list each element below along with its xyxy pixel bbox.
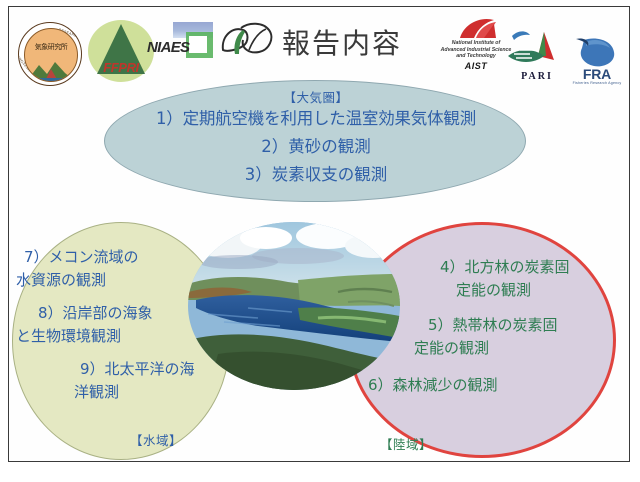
- land-item-5b: 定能の観測: [414, 337, 640, 360]
- atmosphere-item-3: 3）炭素収支の観測: [105, 161, 527, 185]
- fra-label: FRA: [566, 66, 628, 82]
- fra-sublabel: Fisheries Research Agency: [566, 81, 628, 85]
- header: METEOROLOGICAL RESEARCH INSTITUTE 気象研究所 …: [0, 0, 640, 92]
- water-item-8a: 8）沿岸部の海象: [14, 302, 232, 325]
- pari-logo[interactable]: PARI: [504, 26, 570, 82]
- fra-logo[interactable]: FRA Fisheries Research Agency: [566, 36, 628, 88]
- atmosphere-item-1: 1）定期航空機を利用した温室効果気体観測: [105, 105, 527, 129]
- water-item-9b: 洋観測: [14, 381, 232, 404]
- cger-logo[interactable]: [219, 20, 277, 66]
- atmosphere-tag: 【大気圏】: [105, 87, 527, 106]
- niaes-logo[interactable]: NIAES: [147, 22, 215, 70]
- water-item-7a: 7）メコン流域の: [14, 246, 232, 269]
- water-item-7b: 水資源の観測: [14, 269, 232, 292]
- atmosphere-item-2: 2）黄砂の観測: [105, 133, 527, 157]
- bird-wave-sail-icon: [504, 26, 570, 70]
- land-item-5a: 5）熱帯林の炭素固: [428, 314, 640, 337]
- water-item-8b: と生物環境観測: [14, 325, 232, 348]
- poster-root: METEOROLOGICAL RESEARCH INSTITUTE 気象研究所 …: [0, 0, 640, 482]
- mri-seal-inner: 気象研究所: [24, 28, 78, 82]
- land-tag: 【陸域】: [380, 434, 432, 453]
- niaes-label: NIAES: [147, 39, 189, 56]
- water-items: 7）メコン流域の 水資源の観測 8）沿岸部の海象 と生物環境観測 9）北太平洋の…: [14, 246, 232, 404]
- land-item-4b: 定能の観測: [440, 279, 640, 302]
- mri-logo[interactable]: METEOROLOGICAL RESEARCH INSTITUTE 気象研究所: [18, 22, 82, 86]
- niaes-white-block-icon: [189, 36, 207, 53]
- page-title: 報告内容: [282, 22, 402, 62]
- leaf-swirl-icon: [219, 20, 277, 66]
- pari-label: PARI: [504, 71, 570, 82]
- land-item-4a: 4）北方林の炭素固: [440, 256, 640, 279]
- ffpri-label: FFPRI: [88, 60, 154, 75]
- mri-label: 気象研究所: [25, 42, 77, 52]
- atmosphere-ellipse: 【大気圏】 1）定期航空機を利用した温室効果気体観測 2）黄砂の観測 3）炭素収…: [104, 80, 526, 202]
- blue-droplet-icon: [574, 36, 620, 68]
- land-item-6: 6）森林減少の観測: [368, 374, 640, 397]
- water-tag: 【水域】: [130, 430, 182, 449]
- ffpri-logo[interactable]: FFPRI: [88, 20, 154, 82]
- mri-mountain-icon: [25, 59, 77, 81]
- land-items: 4）北方林の炭素固 定能の観測 5）熱帯林の炭素固 定能の観測 6）森林減少の観…: [440, 256, 640, 397]
- water-item-9a: 9）北太平洋の海: [14, 358, 232, 381]
